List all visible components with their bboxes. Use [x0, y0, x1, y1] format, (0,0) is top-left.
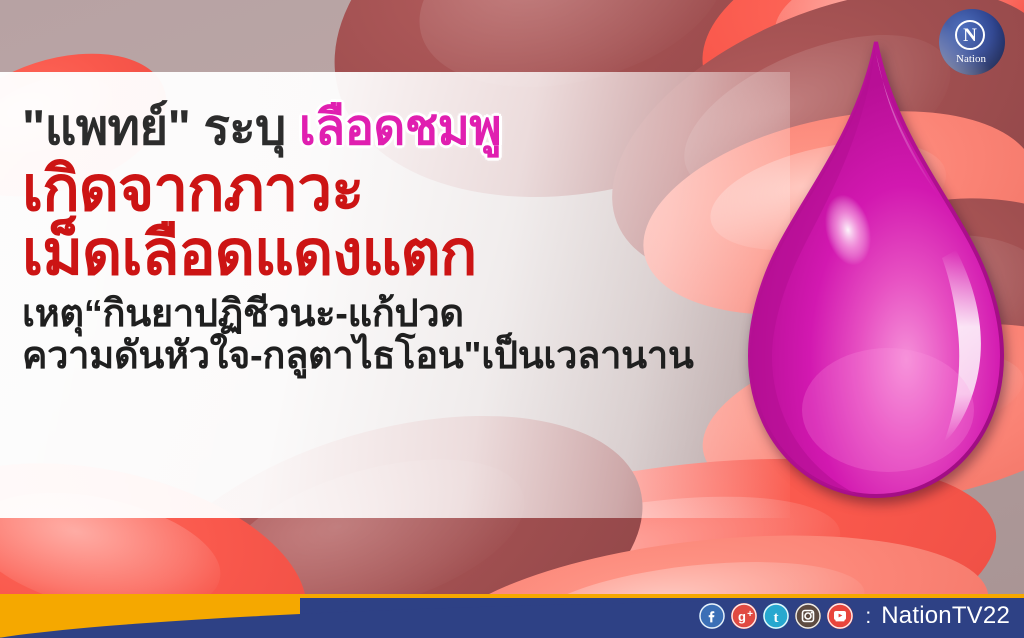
svg-text:t: t	[774, 610, 779, 626]
nation-logo: N Nation	[936, 5, 1010, 79]
twitter-glyph: t	[763, 603, 789, 629]
subheadline-line-1: เหตุ“กินยาปฏิชีวนะ-แก้ปวด	[22, 295, 790, 333]
logo-mark-letter: N	[963, 25, 977, 46]
blood-drop-icon	[742, 38, 1010, 508]
footer-separator: :	[865, 606, 871, 627]
news-poster: "แพทย์" ระบุ เลือดชมพู เกิดจากภาวะ เม็ดเ…	[0, 0, 1024, 638]
headline-highlight: เลือดชมพู	[299, 101, 501, 155]
youtube-icon[interactable]	[827, 603, 853, 629]
headline-line-2: เกิดจากภาวะ	[22, 159, 790, 221]
social-links-row: g + t	[699, 594, 1010, 638]
svg-text:+: +	[747, 609, 753, 620]
blood-drop-graphic	[742, 38, 1010, 508]
footer-handle[interactable]: NationTV22	[881, 602, 1010, 630]
headline-text-block: "แพทย์" ระบุ เลือดชมพู เกิดจากภาวะ เม็ดเ…	[0, 72, 790, 518]
youtube-glyph	[827, 603, 853, 629]
facebook-icon[interactable]	[699, 603, 725, 629]
svg-text:g: g	[738, 609, 746, 624]
google-plus-icon[interactable]: g +	[731, 603, 757, 629]
subheadline-line-2: ความดันหัวใจ-กลูตาไธโอน"เป็นเวลานาน	[22, 337, 790, 375]
headline-line-1: "แพทย์" ระบุ เลือดชมพู	[22, 104, 790, 153]
footer-bar: g + t	[0, 594, 1024, 638]
logo-wordmark: Nation	[956, 53, 986, 65]
headline-kicker: "แพทย์" ระบุ	[22, 101, 299, 155]
google-plus-glyph: g +	[731, 603, 757, 629]
drop-inner-glow	[802, 348, 974, 472]
twitter-icon[interactable]: t	[763, 603, 789, 629]
instagram-icon[interactable]	[795, 603, 821, 629]
instagram-glyph	[795, 603, 821, 629]
facebook-glyph	[699, 603, 725, 629]
headline-line-3: เม็ดเลือดแดงแตก	[22, 223, 790, 285]
